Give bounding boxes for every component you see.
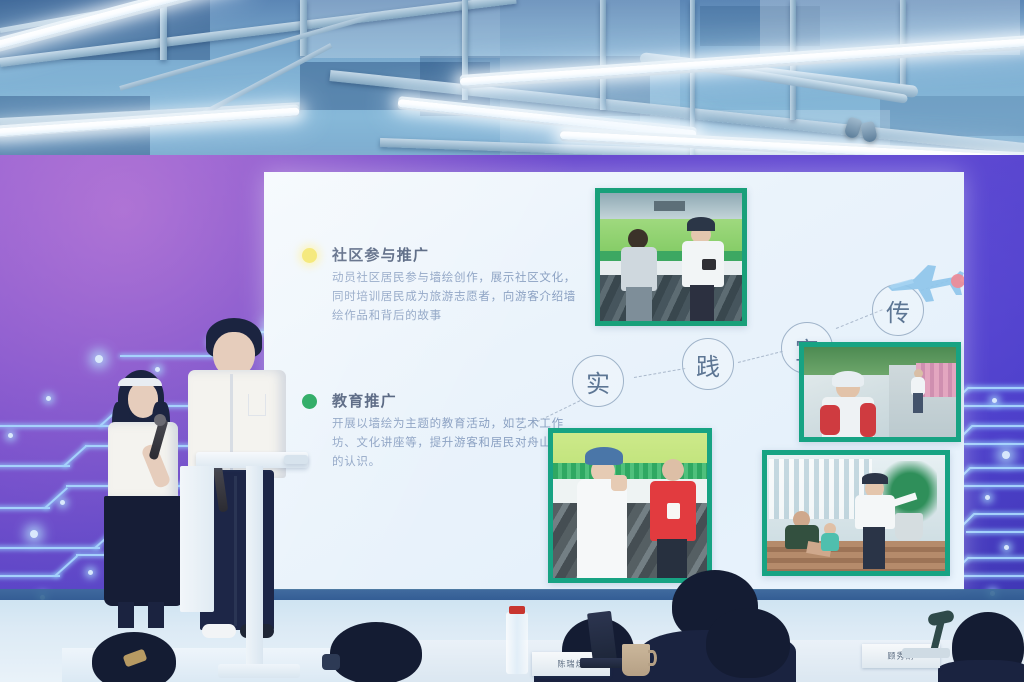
bullet-heading: 教育推广 [332,390,397,411]
coffee-mug [622,644,650,676]
yellow-bullet-dot [302,248,317,263]
dashed-connector [738,351,783,363]
photo-mural-interview-top [595,188,747,326]
bullet-heading: 社区参与推广 [332,244,429,265]
presentation-scene: 社区参与推广 动员社区居民参与墙绘创作，展示社区文化，同时培训居民成为旅游志愿者… [0,0,1024,682]
bullet-body-text: 动员社区居民参与墙绘创作，展示社区文化，同时培训居民成为旅游志愿者，向游客介绍墙… [332,269,584,326]
dashed-connector [634,368,685,378]
microphone-base [902,648,950,658]
audience-head [706,608,790,678]
photo-volunteer-center [548,428,712,583]
presenter-female [96,370,188,660]
circled-char-text: 实 [586,364,610,399]
projected-slide: 社区参与推广 动员社区居民参与墙绘创作，展示社区文化，同时培训居民成为旅游志愿者… [264,172,964,590]
airplane-icon [884,257,964,305]
headband [118,378,162,386]
circled-char-jian: 践 [682,338,734,390]
audience-head [330,622,422,682]
audience-shoulder [938,660,1024,682]
bullet-body-text: 开展以墙绘为主题的教育活动，如艺术工作坊、文化讲座等，提升游客和居民对舟山文化的… [332,415,584,472]
podium-lectern [196,452,316,680]
photo-cyclist-right [799,342,961,442]
ceiling [0,0,1024,168]
circled-char-shi: 实 [572,355,624,407]
mug-handle [648,650,657,666]
water-bottle [506,612,528,674]
bottle-cap [509,606,525,614]
green-bullet-dot [302,394,317,409]
eyeglasses [322,654,340,670]
circled-char-text: 践 [696,347,720,382]
photo-group-bottom-right [762,450,950,576]
